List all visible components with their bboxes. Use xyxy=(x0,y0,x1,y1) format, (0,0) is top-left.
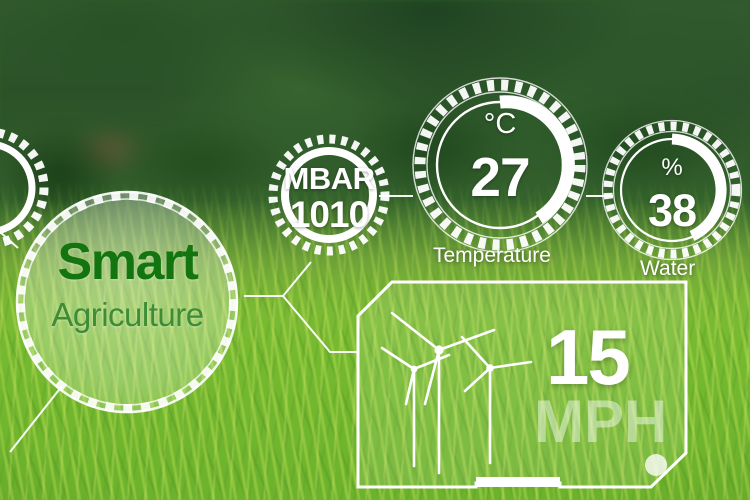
wind-speed-value: 15 xyxy=(546,318,629,396)
panel-corner-dot xyxy=(645,454,667,476)
panel-wind-speed[interactable] xyxy=(358,282,686,487)
gauge-water[interactable] xyxy=(603,121,742,260)
hud-overlay: .ring-solid{fill:none;stroke:#fff;} .rin… xyxy=(0,0,750,500)
gauge-temperature[interactable] xyxy=(413,78,587,252)
temperature-label: Temperature xyxy=(433,244,551,268)
screenshot-root: .ring-solid{fill:none;stroke:#fff;} .rin… xyxy=(0,0,750,500)
wind-speed-unit: MPH xyxy=(534,392,667,452)
brand-line-2: Agriculture xyxy=(10,298,245,331)
water-label: Water xyxy=(640,257,695,281)
panel-bottom-accent xyxy=(476,477,560,487)
smart-agriculture-badge[interactable]: Smart Agriculture xyxy=(10,188,245,416)
gauge-pressure[interactable] xyxy=(273,139,385,251)
brand-line-1: Smart xyxy=(10,236,245,288)
smart-agriculture-text: Smart Agriculture xyxy=(10,236,245,331)
